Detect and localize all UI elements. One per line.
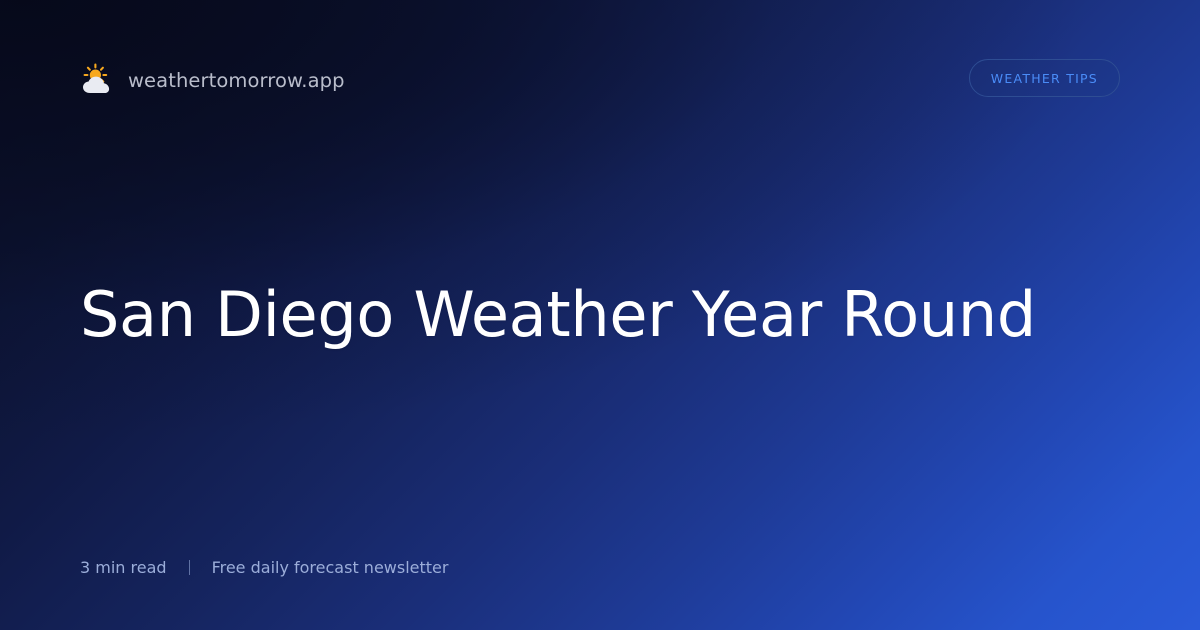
- brand-name: weathertomorrow.app: [128, 69, 345, 92]
- og-card: weathertomorrow.app WEATHER TIPS San Die…: [0, 0, 1200, 630]
- footer-meta: 3 min read Free daily forecast newslette…: [80, 558, 448, 577]
- site-header: weathertomorrow.app WEATHER TIPS: [0, 0, 1200, 160]
- meta-separator: [189, 560, 190, 575]
- page-title: San Diego Weather Year Round: [80, 280, 1080, 351]
- weather-tips-button[interactable]: WEATHER TIPS: [969, 59, 1120, 97]
- newsletter-label: Free daily forecast newsletter: [212, 558, 449, 577]
- sun-behind-cloud-icon: [80, 63, 114, 97]
- brand-logo[interactable]: weathertomorrow.app: [80, 58, 345, 102]
- read-time-label: 3 min read: [80, 558, 167, 577]
